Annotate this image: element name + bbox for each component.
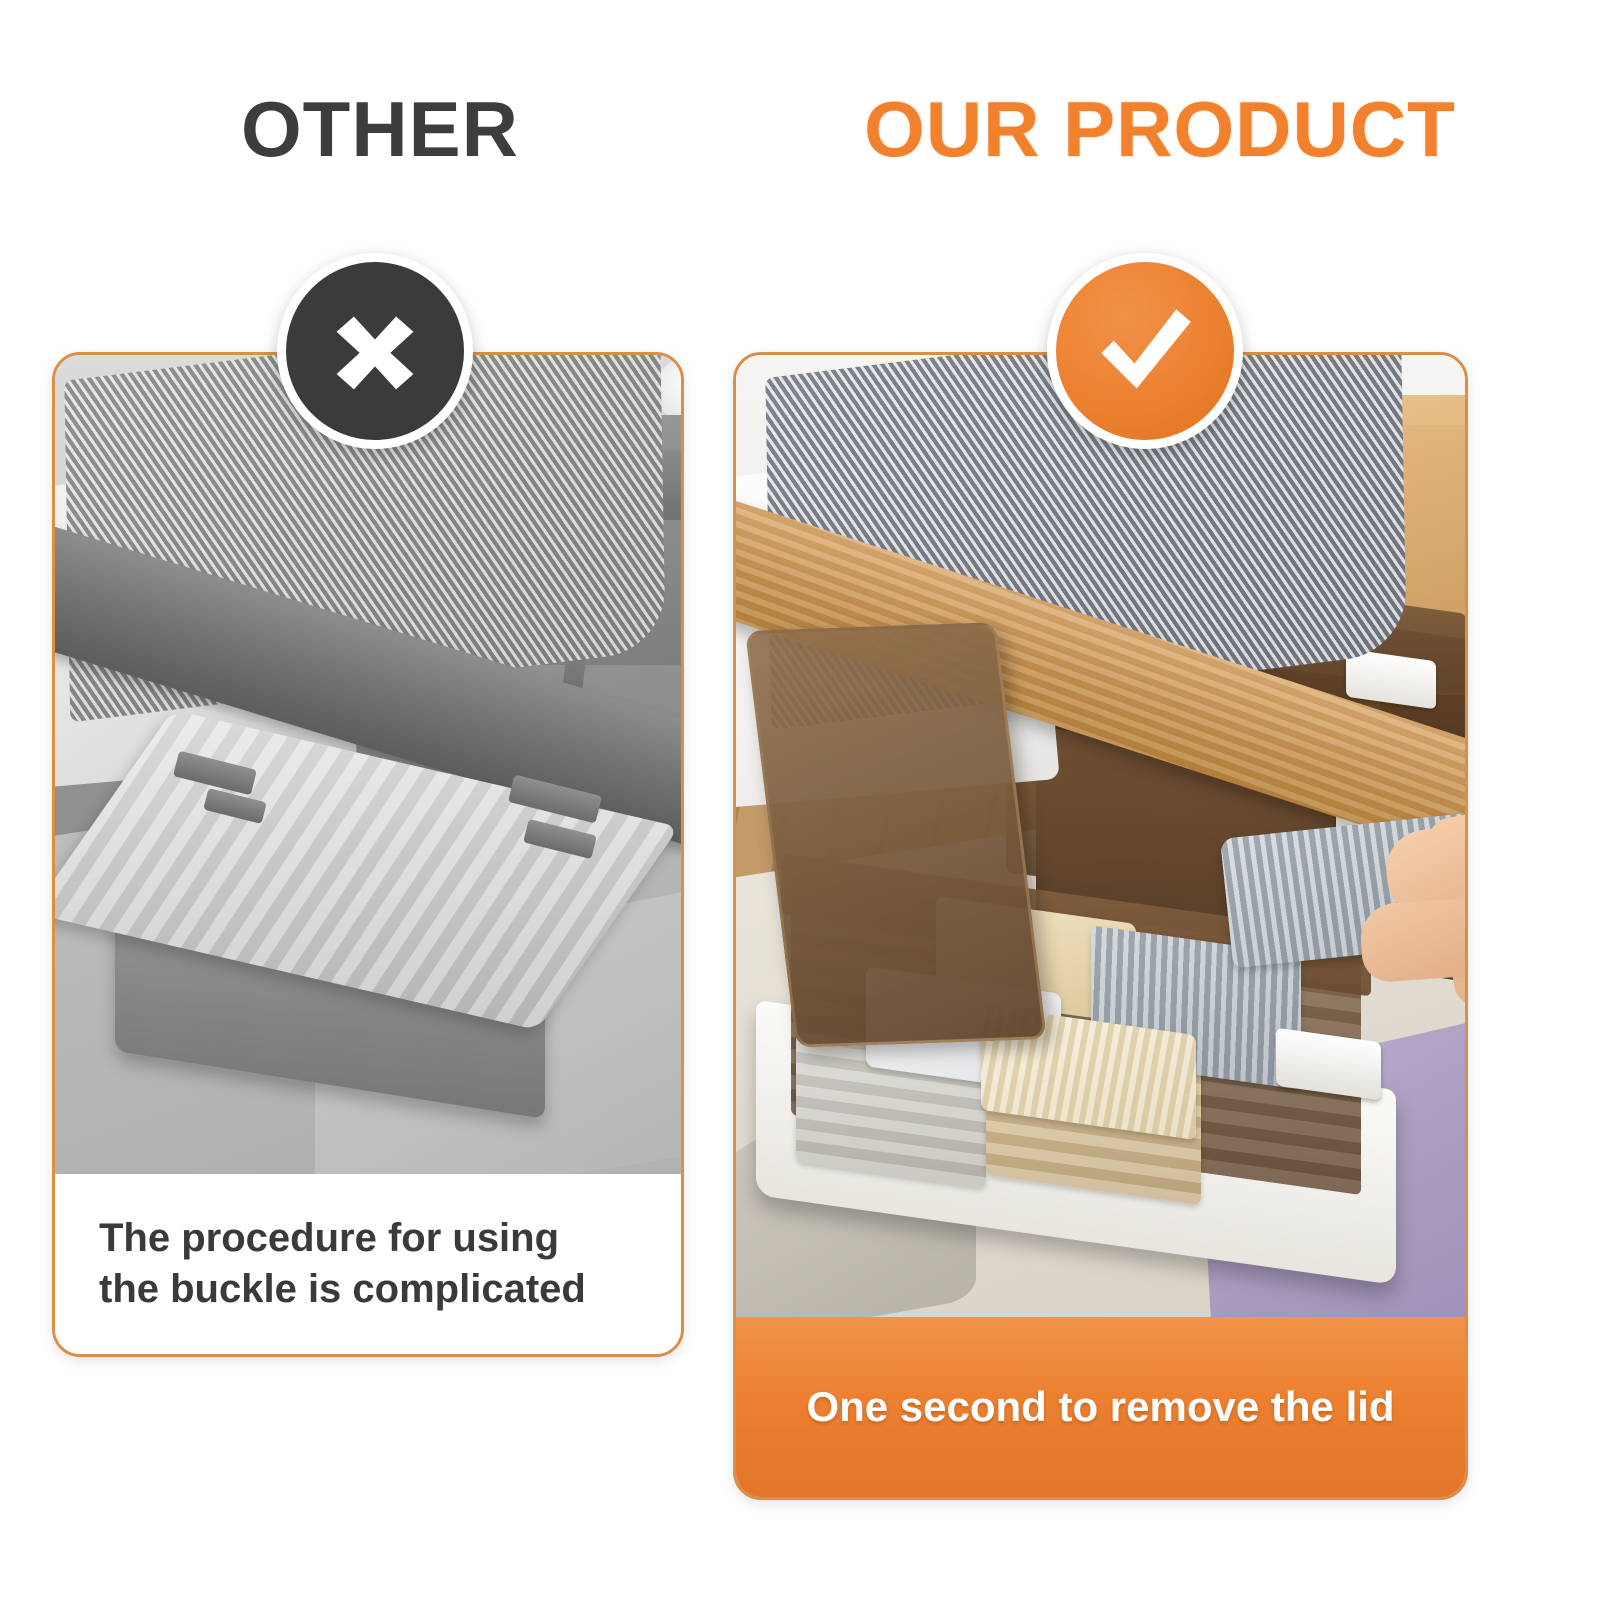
left-column-title: OTHER <box>40 90 720 168</box>
x-mark-badge <box>277 253 473 449</box>
caption-line-2: the buckle is complicated <box>99 1267 586 1311</box>
our-product-photo <box>736 355 1465 1320</box>
check-mark-icon <box>1093 299 1197 403</box>
our-product-caption: One second to remove the lid <box>736 1317 1465 1497</box>
x-mark-icon <box>327 303 423 399</box>
other-product-photo <box>55 355 681 1180</box>
other-product-caption: The procedure for using the buckle is co… <box>55 1174 681 1354</box>
storage-box-open-lid <box>745 622 1047 1048</box>
right-column-title: OUR PRODUCT <box>740 90 1580 168</box>
caption-line-1: One second to remove the lid <box>806 1382 1394 1432</box>
other-product-card: The procedure for using the buckle is co… <box>52 352 684 1357</box>
caption-line-1: The procedure for using <box>99 1216 559 1260</box>
headings-row: OTHER OUR PRODUCT <box>0 0 1600 230</box>
our-product-card: One second to remove the lid <box>733 352 1468 1500</box>
check-mark-badge <box>1047 253 1243 449</box>
